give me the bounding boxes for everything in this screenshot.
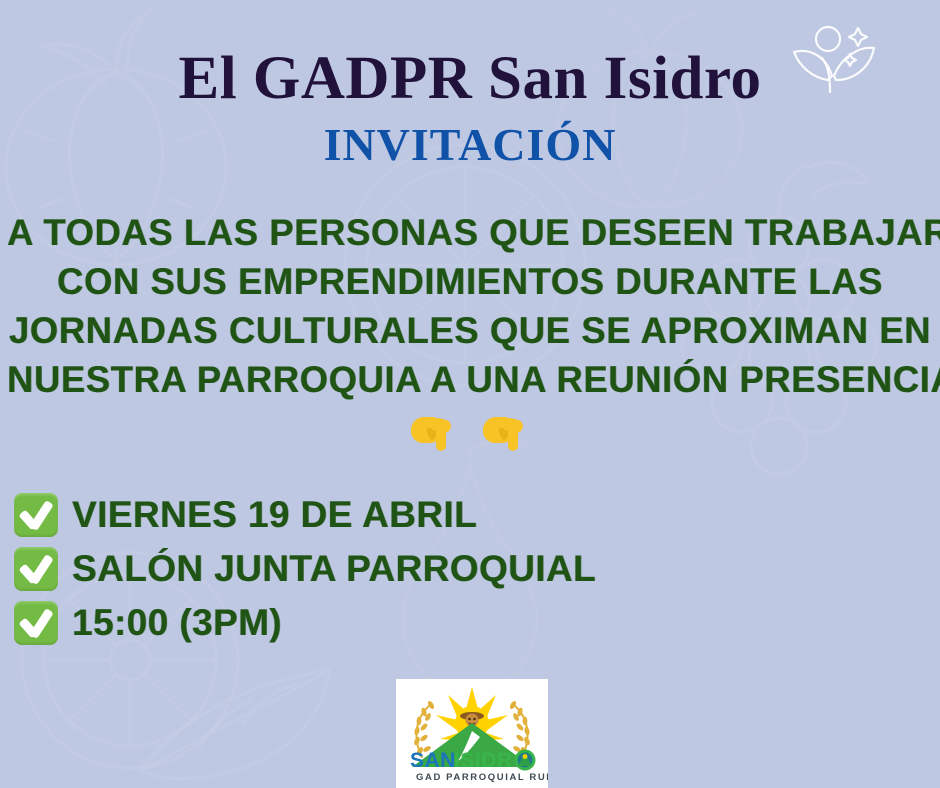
backhand-index-pointing-down-icon: [410, 408, 458, 456]
body-line: A TODAS LAS PERSONAS QUE DESEEN TRABAJAR: [7, 208, 933, 257]
list-item-label: SALÓN JUNTA PARROQUIAL: [72, 547, 596, 591]
body-line: NUESTRA PARROQUIA A UNA REUNIÓN PRESENCI…: [7, 355, 933, 404]
list-item-label: 15:00 (3PM): [72, 601, 282, 645]
check-mark-button-icon: [14, 547, 58, 591]
backhand-index-pointing-down-icon: [482, 408, 530, 456]
svg-text:GAD PARROQUIAL RURAL: GAD PARROQUIAL RURAL: [416, 772, 548, 783]
svg-text:SAN: SAN: [410, 749, 456, 772]
body-paragraph: A TODAS LAS PERSONAS QUE DESEEN TRABAJAR…: [0, 208, 940, 404]
event-details-checklist: VIERNES 19 DE ABRIL SALÓN JUNTA PARROQUI…: [14, 490, 596, 652]
san-isidro-logo: SAN ISIDR GAD PARROQUIAL RURAL: [396, 679, 548, 788]
check-mark-button-icon: [14, 601, 58, 645]
list-item: SALÓN JUNTA PARROQUIAL: [14, 544, 596, 594]
pointing-hands-row: [0, 408, 940, 464]
sprout-ornament-icon: [784, 18, 880, 98]
check-mark-button-icon: [14, 493, 58, 537]
list-item-label: VIERNES 19 DE ABRIL: [72, 493, 477, 537]
svg-text:ISIDR: ISIDR: [454, 749, 513, 772]
list-item: 15:00 (3PM): [14, 598, 596, 648]
invitation-heading: INVITACIÓN: [0, 118, 940, 172]
page-title: El GADPR San Isidro: [179, 43, 762, 115]
body-line: JORNADAS CULTURALES QUE SE APROXIMAN EN: [7, 306, 933, 355]
invitation-poster: El GADPR San Isidro INVITACIÓN A TODAS L…: [0, 0, 940, 788]
list-item: VIERNES 19 DE ABRIL: [14, 490, 596, 540]
body-line: CON SUS EMPRENDIMIENTOS DURANTE LAS: [7, 257, 933, 306]
